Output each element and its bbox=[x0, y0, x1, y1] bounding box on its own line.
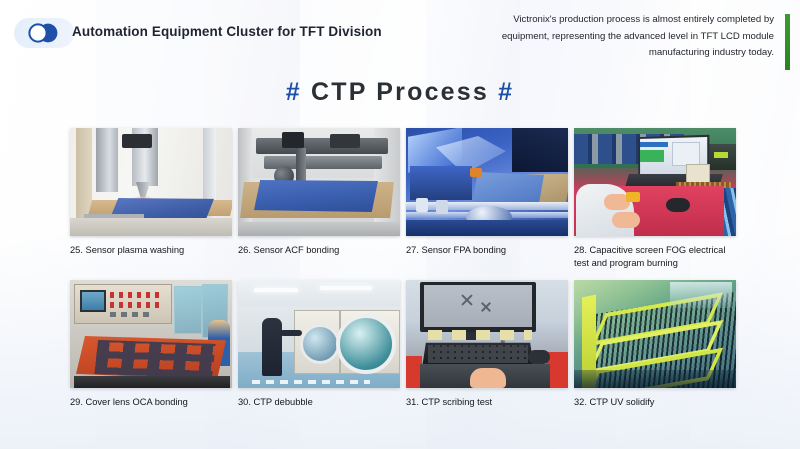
gallery-item[interactable]: 26. Sensor ACF bonding bbox=[238, 128, 400, 257]
section-title: # CTP Process # bbox=[0, 78, 800, 107]
photo-acf-bonding[interactable] bbox=[238, 128, 400, 236]
photo-caption: 30. CTP debubble bbox=[238, 396, 400, 409]
slide-header: Automation Equipment Cluster for TFT Div… bbox=[0, 0, 800, 72]
photo-caption: 28. Capacitive screen FOG electrical tes… bbox=[574, 244, 736, 269]
gallery-item[interactable]: 27. Sensor FPA bonding bbox=[406, 128, 568, 257]
page-title: Automation Equipment Cluster for TFT Div… bbox=[72, 24, 382, 39]
photo-caption: 31. CTP scribing test bbox=[406, 396, 568, 409]
two-overlapping-circles-icon bbox=[24, 23, 64, 43]
photo-fpa-bonding[interactable] bbox=[406, 128, 568, 236]
gallery-item[interactable]: 25. Sensor plasma washing bbox=[70, 128, 232, 257]
photo-caption: 32. CTP UV solidify bbox=[574, 396, 736, 409]
photo-plasma-washing[interactable] bbox=[70, 128, 232, 236]
slide-canvas: Automation Equipment Cluster for TFT Div… bbox=[0, 0, 800, 449]
gallery-item[interactable]: 28. Capacitive screen FOG electrical tes… bbox=[574, 128, 736, 269]
intro-accent-bar bbox=[785, 14, 790, 70]
gallery-item[interactable]: 29. Cover lens OCA bonding bbox=[70, 280, 232, 409]
gallery-item[interactable]: 32. CTP UV solidify bbox=[574, 280, 736, 409]
photo-ctp-uv-solidify[interactable] bbox=[574, 280, 736, 388]
section-title-text: CTP Process bbox=[311, 78, 489, 106]
hash-right: # bbox=[498, 78, 514, 106]
photo-oca-bonding[interactable] bbox=[70, 280, 232, 388]
photo-caption: 26. Sensor ACF bonding bbox=[238, 244, 400, 257]
photo-ctp-debubble[interactable] bbox=[238, 280, 400, 388]
photo-fog-electrical-test[interactable] bbox=[574, 128, 736, 236]
intro-paragraph: Victronix's production process is almost… bbox=[472, 12, 774, 62]
gallery-item[interactable]: 31. CTP scribing test bbox=[406, 280, 568, 409]
photo-caption: 29. Cover lens OCA bonding bbox=[70, 396, 232, 409]
gallery-item[interactable]: 30. CTP debubble bbox=[238, 280, 400, 409]
hash-left: # bbox=[286, 78, 302, 106]
photo-caption: 25. Sensor plasma washing bbox=[70, 244, 232, 257]
photo-caption: 27. Sensor FPA bonding bbox=[406, 244, 568, 257]
photo-ctp-scribing-test[interactable] bbox=[406, 280, 568, 388]
